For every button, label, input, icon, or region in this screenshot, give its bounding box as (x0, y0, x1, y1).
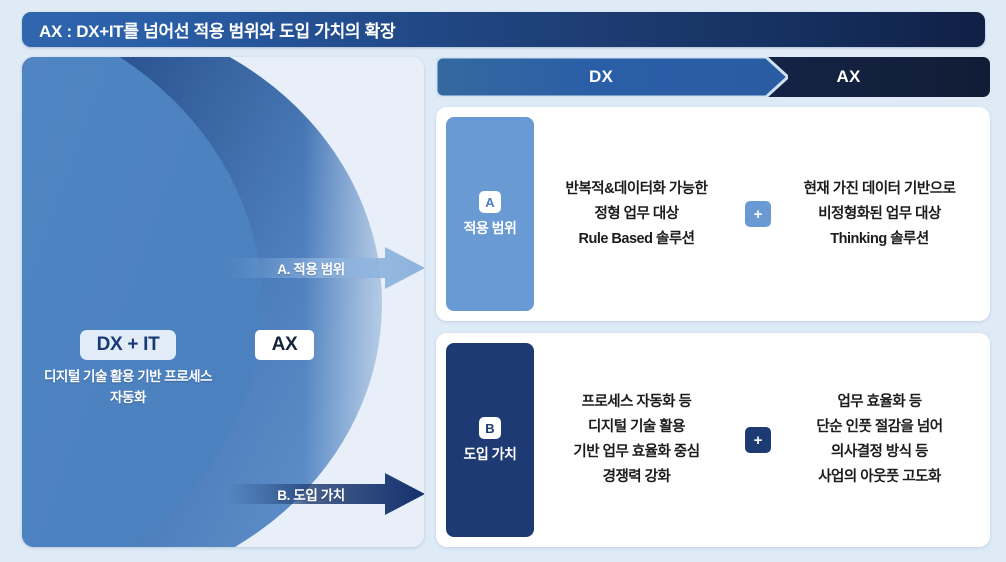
plus-icon: + (745, 427, 771, 453)
plus-icon: + (745, 201, 771, 227)
banner-dx-label: DX (589, 67, 613, 87)
page-title: AX : DX+IT를 넘어선 적용 범위와 도입 가치의 확장 (22, 17, 395, 42)
card-scope-badge: A (479, 191, 501, 213)
card-value-tab: B 도입 가치 (446, 343, 534, 537)
banner-ax-label: AX (836, 67, 860, 87)
card-value-body: 프로세스 자동화 등 디지털 기술 활용 기반 업무 효율화 중심 경쟁력 강화… (534, 333, 990, 547)
card-value-ax-text: 업무 효율화 등 단순 인풋 절감을 넘어 의사결정 방식 등 사업의 아웃풋 … (783, 390, 976, 490)
dxit-subtitle: 디지털 기술 활용 기반 프로세스 자동화 (40, 366, 216, 408)
card-scope-dx-text: 반복적&데이터화 가능한 정형 업무 대상 Rule Based 솔루션 (540, 177, 733, 252)
dxit-chip: DX + IT (80, 330, 176, 360)
arrow-scope: A. 적용 범위 (227, 246, 424, 290)
dx-ax-banner: AX DX (436, 57, 990, 97)
card-scope-tab: A 적용 범위 (446, 117, 534, 311)
card-value-badge: B (479, 417, 501, 439)
card-scope-ax-text: 현재 가진 데이터 기반으로 비정형화된 업무 대상 Thinking 솔루션 (783, 177, 976, 252)
banner-dx-label-wrap: DX (436, 57, 766, 97)
banner-dx: DX (436, 57, 788, 97)
card-scope-tab-label: 적용 범위 (464, 219, 517, 237)
card-scope-body: 반복적&데이터화 가능한 정형 업무 대상 Rule Based 솔루션 + 현… (534, 107, 990, 321)
card-value-tab-label: 도입 가치 (464, 445, 517, 463)
card-value-dx-text: 프로세스 자동화 등 디지털 기술 활용 기반 업무 효율화 중심 경쟁력 강화 (540, 390, 733, 490)
page-title-bar: AX : DX+IT를 넘어선 적용 범위와 도입 가치의 확장 (22, 12, 985, 47)
comparison-column: AX DX A 적용 범위 반복적& (436, 57, 990, 547)
arrow-value: B. 도입 가치 (227, 472, 424, 516)
card-value: B 도입 가치 프로세스 자동화 등 디지털 기술 활용 기반 업무 효율화 중… (436, 333, 990, 547)
card-scope: A 적용 범위 반복적&데이터화 가능한 정형 업무 대상 Rule Based… (436, 107, 990, 321)
concept-visual-panel: A. 적용 범위 B. 도입 가치 DX + IT 디지털 기술 활용 기반 프… (22, 57, 424, 547)
arrow-value-label: B. 도입 가치 (227, 472, 395, 516)
ax-chip: AX (255, 330, 314, 360)
arrow-scope-label: A. 적용 범위 (227, 246, 395, 290)
